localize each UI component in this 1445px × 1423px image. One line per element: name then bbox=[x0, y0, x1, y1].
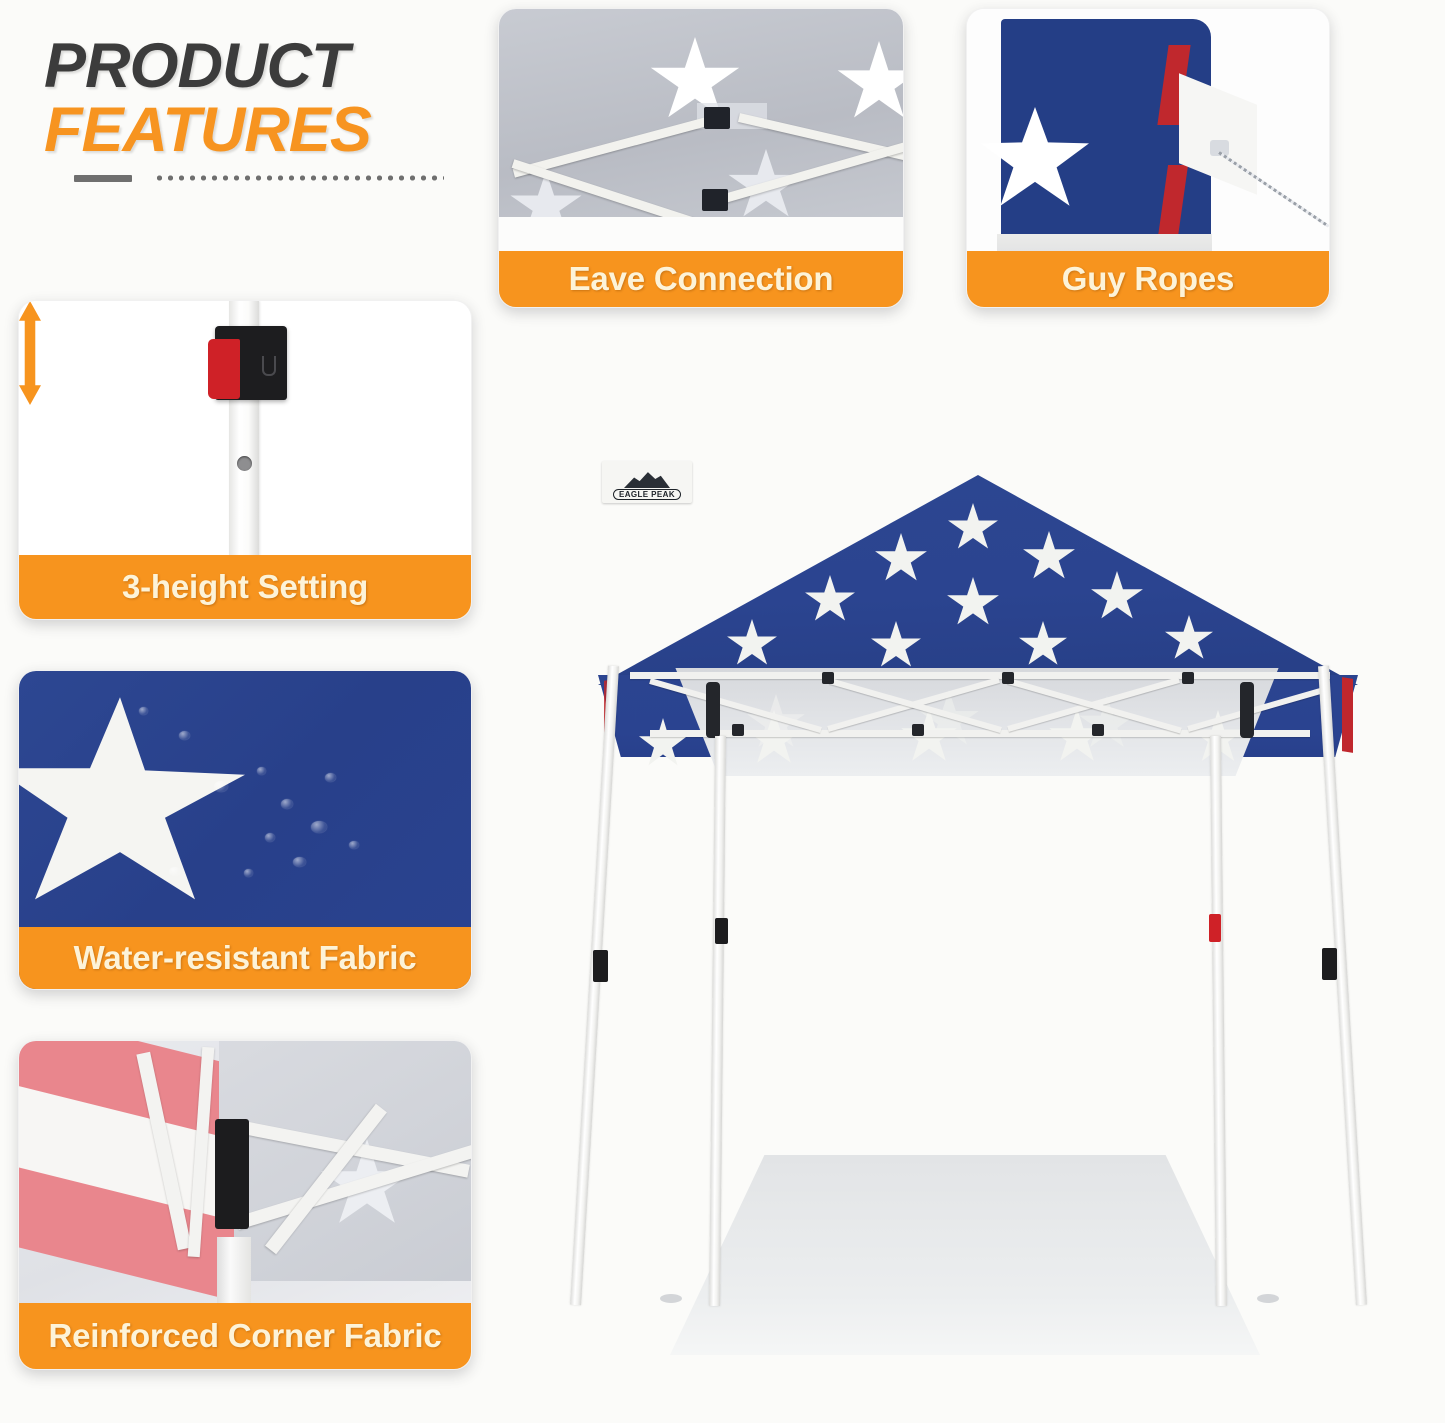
water-droplet bbox=[325, 773, 336, 782]
water-droplet bbox=[139, 707, 148, 715]
tent-leg-top bbox=[217, 1237, 251, 1307]
tent-leg bbox=[1210, 736, 1227, 1306]
title-line-product: PRODUCT bbox=[44, 36, 474, 98]
eave-connector bbox=[704, 107, 730, 129]
water-droplet bbox=[169, 867, 181, 876]
red-stripe bbox=[1342, 677, 1353, 753]
height-adjust-hole bbox=[237, 456, 252, 471]
feature-card-height-setting[interactable]: 3-height Setting bbox=[18, 300, 472, 620]
corner-hub-bracket bbox=[1240, 682, 1254, 738]
water-droplet bbox=[311, 821, 327, 833]
brand-name: EAGLE PEAK bbox=[613, 489, 681, 500]
frame-joint bbox=[912, 724, 924, 736]
infographic-canvas: PRODUCT FEATURES Eave Connection bbox=[0, 0, 1445, 1423]
page-title: PRODUCT FEATURES bbox=[44, 36, 474, 161]
feature-label-guy-ropes: Guy Ropes bbox=[967, 251, 1329, 307]
frame-joint bbox=[1002, 672, 1014, 684]
guy-rope-line bbox=[1218, 151, 1329, 227]
tent-foot bbox=[660, 1294, 682, 1303]
feature-label-reinforced-corner: Reinforced Corner Fabric bbox=[19, 1303, 471, 1369]
feature-card-reinforced-corner[interactable]: Reinforced Corner Fabric bbox=[18, 1040, 472, 1370]
leg-height-clip bbox=[593, 950, 608, 982]
mountain-icon bbox=[624, 470, 670, 488]
star-shape bbox=[19, 693, 245, 908]
water-droplet bbox=[179, 731, 190, 740]
water-droplet bbox=[214, 781, 228, 792]
feature-card-guy-ropes[interactable]: Guy Ropes bbox=[966, 8, 1330, 308]
divider-solid-bar bbox=[74, 175, 132, 182]
corner-hub-bracket bbox=[706, 682, 720, 738]
frame-truss bbox=[630, 672, 1330, 679]
tent-leg bbox=[570, 666, 619, 1306]
leg-height-clip bbox=[715, 918, 728, 944]
photo-bottom-strip bbox=[499, 217, 903, 251]
housing-notch bbox=[262, 356, 276, 376]
feature-label-height-setting: 3-height Setting bbox=[19, 555, 471, 619]
feature-label-water-resistant: Water-resistant Fabric bbox=[19, 927, 471, 989]
feature-card-eave-connection[interactable]: Eave Connection bbox=[498, 8, 904, 308]
tent-leg bbox=[1318, 666, 1367, 1306]
star-shape bbox=[836, 41, 903, 125]
water-droplet bbox=[244, 869, 253, 877]
frame-joint bbox=[732, 724, 744, 736]
eave-connector bbox=[702, 189, 728, 211]
canopy-roof bbox=[598, 475, 1358, 685]
tent-foot bbox=[1257, 1294, 1279, 1303]
divider-dotted-line bbox=[154, 175, 444, 181]
water-droplet bbox=[281, 799, 293, 809]
feature-label-eave-connection: Eave Connection bbox=[499, 251, 903, 307]
frame-joint bbox=[1182, 672, 1194, 684]
water-droplet bbox=[265, 833, 275, 842]
leg-height-clip bbox=[1209, 914, 1221, 942]
water-droplet bbox=[349, 841, 359, 849]
corner-hub-bracket bbox=[215, 1119, 249, 1229]
title-line-features: FEATURES bbox=[44, 100, 474, 162]
leg-height-clip bbox=[1322, 948, 1337, 980]
arrow-down-icon bbox=[19, 353, 41, 405]
red-release-button bbox=[208, 339, 240, 399]
brand-logo-patch: EAGLE PEAK bbox=[602, 461, 692, 503]
title-divider bbox=[74, 172, 444, 184]
water-droplet bbox=[293, 857, 306, 867]
frame-joint bbox=[1092, 724, 1104, 736]
hero-product-image: EAGLE PEAK bbox=[500, 420, 1430, 1380]
water-droplet bbox=[257, 767, 266, 775]
arrow-up-icon bbox=[19, 301, 41, 353]
tent-leg bbox=[709, 736, 726, 1306]
frame-joint bbox=[822, 672, 834, 684]
ground-shadow bbox=[670, 1155, 1260, 1355]
frame-bar bbox=[720, 140, 903, 204]
canopy-roof-group bbox=[598, 475, 1358, 685]
feature-card-water-resistant[interactable]: Water-resistant Fabric bbox=[18, 670, 472, 990]
